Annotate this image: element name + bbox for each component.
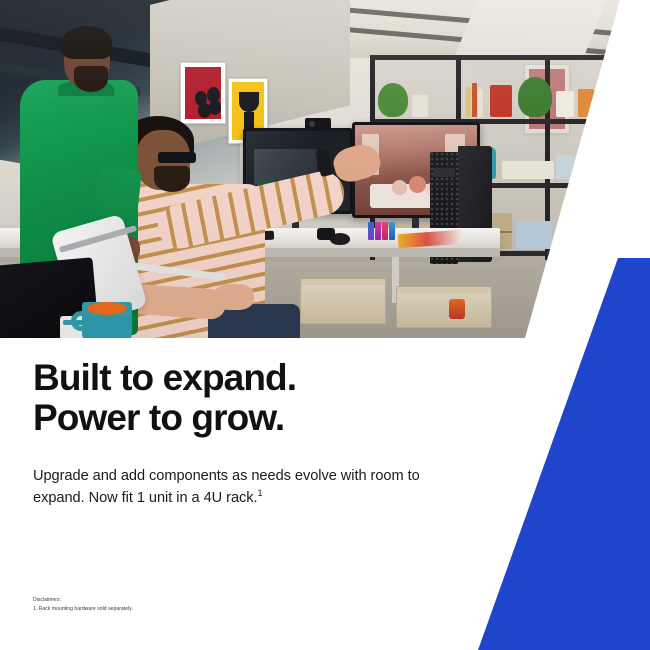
- vial: [382, 222, 388, 240]
- shelf-book: [466, 87, 471, 117]
- page-title: Built to expand. Power to grow.: [33, 358, 463, 439]
- shelf-pot: [556, 91, 574, 117]
- color-vials: [368, 222, 394, 240]
- marketing-banner: hp: [0, 0, 650, 650]
- shelf-pot: [598, 93, 618, 117]
- beard: [154, 166, 190, 192]
- shelf-board: [370, 55, 632, 60]
- vial: [375, 222, 381, 240]
- shelf-plant: [608, 79, 630, 103]
- box-lid: [397, 287, 491, 293]
- shelf-book: [478, 89, 483, 117]
- shelf-vase: [412, 95, 428, 117]
- tower-drive-bay: [433, 168, 455, 177]
- shelf-box: [556, 155, 602, 179]
- body-copy: Upgrade and add components as needs evol…: [33, 466, 425, 508]
- shelf-pot: [578, 89, 594, 117]
- hair: [62, 26, 112, 59]
- shelf-box: [490, 85, 512, 117]
- mug-interior: [87, 302, 127, 315]
- hero-image: hp: [0, 0, 650, 338]
- shelf-book: [610, 151, 615, 179]
- earbuds-case: [317, 228, 335, 240]
- sunglasses: [158, 152, 196, 163]
- vial: [368, 222, 374, 240]
- hero-photo-composition: hp: [0, 0, 650, 338]
- shelf-yellow-bag: [560, 205, 604, 251]
- shelf-tray: [502, 161, 554, 179]
- storage-box: [300, 278, 386, 324]
- teal-mug: [82, 302, 132, 338]
- body-copy-text: Upgrade and add components as needs evol…: [33, 468, 420, 506]
- shelf-plant: [378, 83, 408, 117]
- shelf-book: [472, 83, 477, 117]
- disclaimers-title: Disclaimers:: [33, 596, 363, 605]
- mug-handle: [71, 311, 87, 331]
- vial: [389, 222, 395, 240]
- beard: [74, 66, 108, 92]
- box-label-graphic: [449, 299, 465, 319]
- shelf-item: [516, 221, 552, 249]
- shelf-post: [627, 55, 632, 260]
- shelf-plant: [518, 77, 552, 117]
- disclaimers: Disclaimers: 1. Rack mounting hardware s…: [33, 596, 363, 614]
- shelf-photo: [592, 231, 622, 251]
- headline-line-2: Power to grow.: [33, 398, 463, 438]
- headline-line-1: Built to expand.: [33, 357, 296, 398]
- disclaimer-item-1: 1. Rack mounting hardware sold separatel…: [33, 605, 363, 614]
- storage-box: [396, 286, 492, 328]
- footnote-marker: 1: [258, 488, 263, 498]
- hand-on-keyboard: [214, 284, 254, 310]
- box-lid: [301, 279, 385, 285]
- shelf-book: [616, 149, 621, 179]
